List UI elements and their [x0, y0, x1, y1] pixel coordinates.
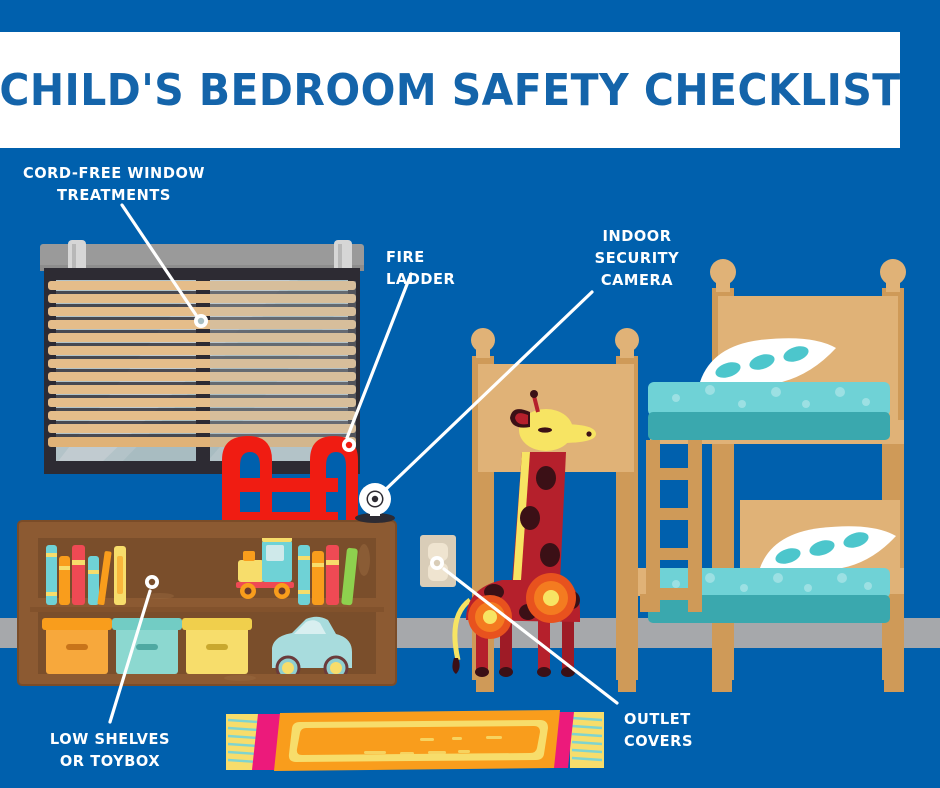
page-title: CHILD'S BEDROOM SAFETY CHECKLIST [32, 32, 869, 148]
ladder-rung [240, 478, 338, 492]
bed-leg [618, 660, 636, 692]
bed-leg [712, 660, 732, 692]
window-illustration [40, 240, 364, 474]
infographic-canvas: CHILD'S BEDROOM SAFETY CHECKLIST CORD-FR… [0, 0, 940, 788]
bed-leg [884, 660, 904, 692]
bed-finial [710, 259, 736, 285]
callout-label-indoor-security-camera: INDOOR SECURITY CAMERA [576, 225, 698, 291]
bunk-ladder-rung [646, 548, 702, 560]
rug-fringe-right [570, 712, 604, 768]
bunk-ladder-rung [646, 468, 702, 480]
bunk-ladder-rung [646, 508, 702, 520]
bed-finial [615, 328, 639, 352]
top-mattress-base [648, 412, 890, 440]
bunk-ladder-rung [646, 588, 702, 600]
top-mattress [648, 382, 890, 416]
giraffe-eye [538, 427, 552, 432]
callout-label-outlet-covers: OUTLET COVERS [624, 708, 727, 752]
giraffe-nostril [586, 431, 591, 436]
callout-label-cord-free-window-treatments: CORD-FREE WINDOW TREATMENTS [20, 162, 208, 206]
bookshelf-illustration [18, 521, 396, 685]
window-valance [40, 244, 364, 268]
callout-label-low-shelves-or-toybox: LOW SHELVES OR TOYBOX [35, 728, 185, 772]
bed-finial [471, 328, 495, 352]
bed-finial [880, 259, 906, 285]
callout-label-fire-ladder: FIRE LADDER [386, 246, 489, 290]
rug-illustration [226, 710, 604, 771]
